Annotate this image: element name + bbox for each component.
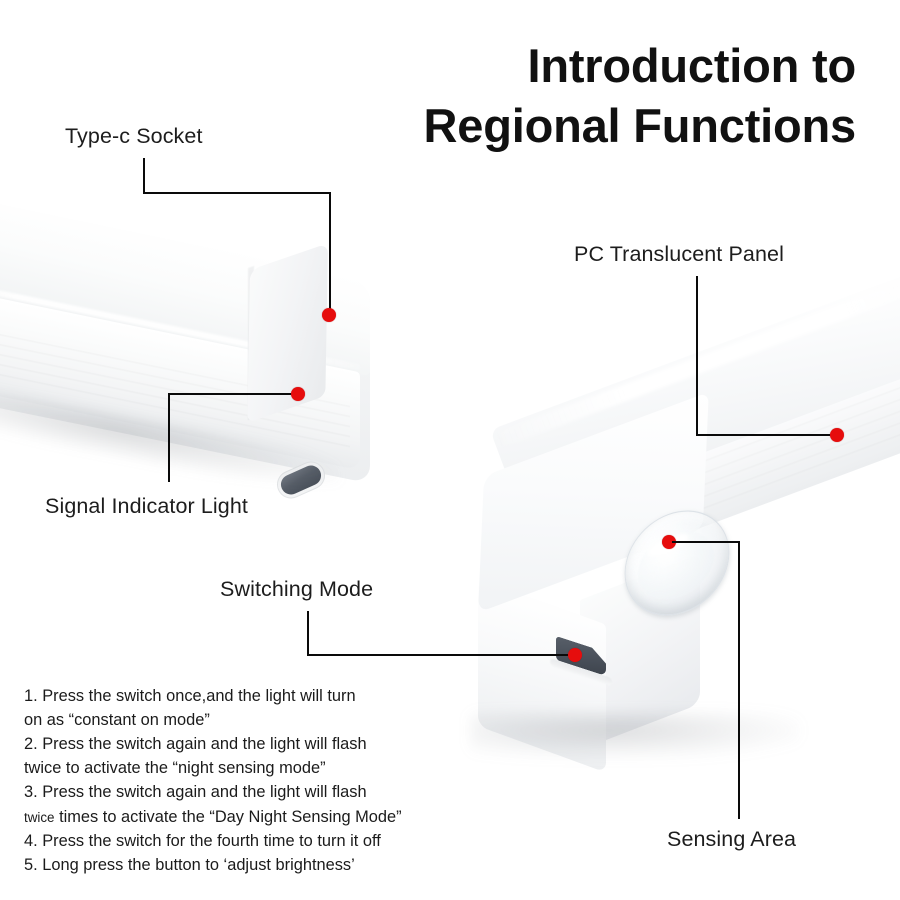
callout-label-pc-translucent-panel: PC Translucent Panel xyxy=(574,242,784,267)
instruction-3-line-1: 3. Press the switch again and the light … xyxy=(24,780,444,804)
callout-label-signal-indicator-light: Signal Indicator Light xyxy=(45,494,248,519)
page-title-line-2: Regional Functions xyxy=(336,96,856,156)
product-render-left-bar xyxy=(0,170,400,500)
leader-line-sensing-vertical xyxy=(738,541,740,819)
marker-dot-signal-indicator xyxy=(291,387,305,401)
instruction-1-line-2: on as “constant on mode” xyxy=(24,708,444,732)
leader-line-panel-vertical xyxy=(696,276,698,435)
leader-line-type-c-vertical-b xyxy=(329,192,331,316)
instruction-list: 1. Press the switch once,and the light w… xyxy=(24,684,444,877)
instruction-3-twice: twice xyxy=(24,810,55,825)
leader-line-switch-vertical xyxy=(307,611,309,656)
left-bar-end-cap xyxy=(247,243,328,423)
right-bar-shadow xyxy=(470,712,800,758)
instruction-2-line-1: 2. Press the switch again and the light … xyxy=(24,732,444,756)
instruction-4: 4. Press the switch for the fourth time … xyxy=(24,829,444,853)
instruction-3-rest: times to activate the “Day Night Sensing… xyxy=(55,808,402,826)
callout-label-switching-mode: Switching Mode xyxy=(220,577,373,602)
page-title-line-1: Introduction to xyxy=(527,39,856,92)
instruction-5: 5. Long press the button to ‘adjust brig… xyxy=(24,853,444,877)
callout-label-type-c-socket: Type-c Socket xyxy=(65,124,203,149)
leader-line-sensing-horizontal xyxy=(672,541,740,543)
marker-dot-switching-mode xyxy=(568,648,582,662)
instruction-2-line-2: twice to activate the “night sensing mod… xyxy=(24,756,444,780)
leader-line-signal-vertical xyxy=(168,393,170,482)
diagram-canvas: Introduction to Regional Functions Type-… xyxy=(0,0,900,900)
leader-line-switch-horizontal xyxy=(307,654,575,656)
leader-line-type-c-vertical-a xyxy=(143,158,145,194)
marker-dot-type-c-socket xyxy=(322,308,336,322)
callout-label-sensing-area: Sensing Area xyxy=(667,827,796,852)
marker-dot-pc-translucent-panel xyxy=(830,428,844,442)
product-render-right-bar xyxy=(470,300,900,760)
page-title: Introduction to Regional Functions xyxy=(336,36,856,156)
leader-line-panel-horizontal xyxy=(696,434,836,436)
instruction-3-line-2: twice times to activate the “Day Night S… xyxy=(24,805,444,829)
leader-line-signal-horizontal xyxy=(168,393,298,395)
instruction-1-line-1: 1. Press the switch once,and the light w… xyxy=(24,684,444,708)
leader-line-type-c-horizontal xyxy=(143,192,331,194)
